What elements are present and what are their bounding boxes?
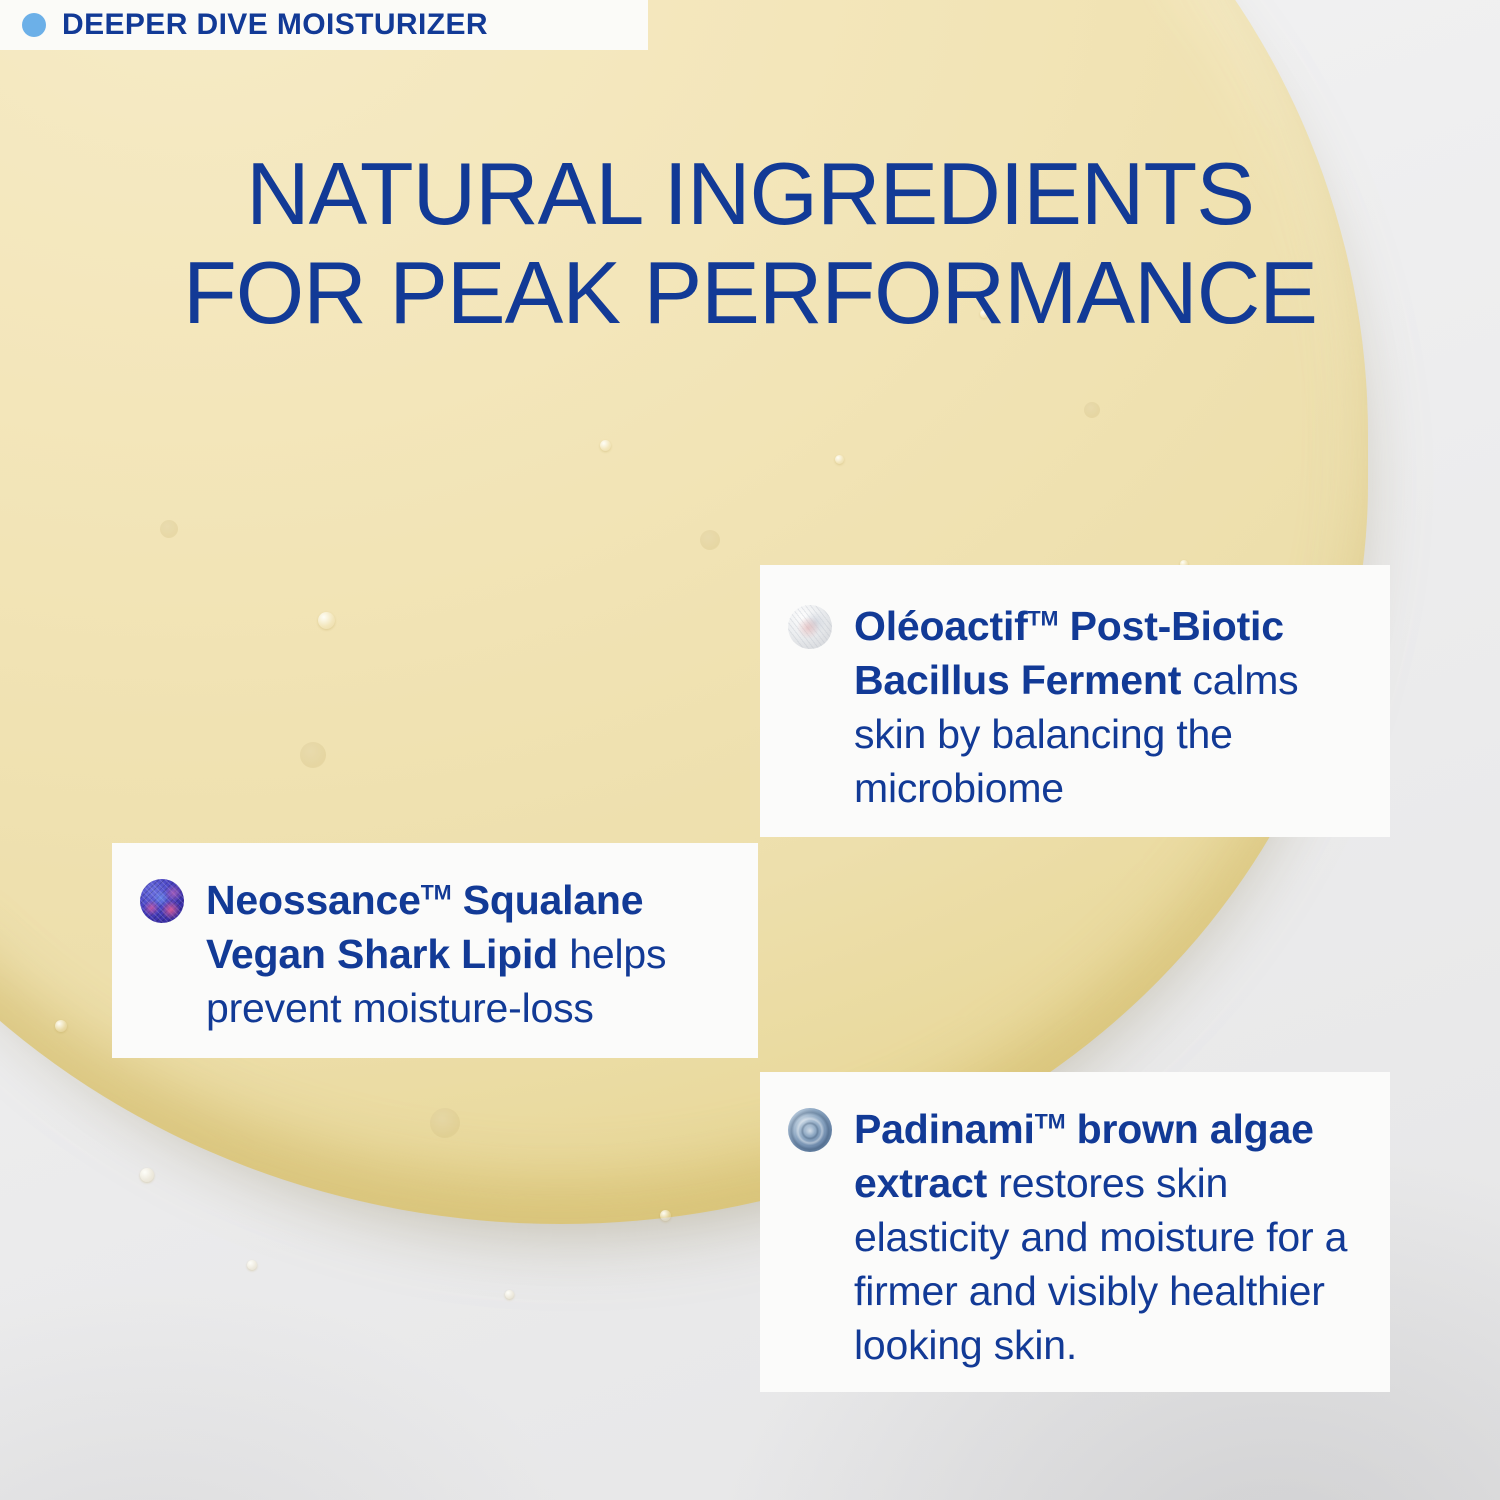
ingredient-card-padinami: PadinamiTM brown algae extract restores … bbox=[760, 1072, 1390, 1392]
page-title: NATURAL INGREDIENTS FOR PEAK PERFORMANCE bbox=[0, 145, 1500, 342]
product-ingredient-infographic: DEEPER DIVE MOISTURIZER NATURAL INGREDIE… bbox=[0, 0, 1500, 1500]
trademark-symbol: TM bbox=[1028, 606, 1059, 630]
ingredient-card-oleoactif: OléoactifTM Post-Biotic Bacillus Ferment… bbox=[760, 565, 1390, 837]
headline-line-2: FOR PEAK PERFORMANCE bbox=[70, 244, 1430, 343]
ingredient-text-padinami: PadinamiTM brown algae extract restores … bbox=[854, 1102, 1360, 1364]
trademark-symbol: TM bbox=[421, 880, 452, 904]
trademark-symbol: TM bbox=[1035, 1109, 1066, 1133]
eyebrow-label: DEEPER DIVE MOISTURIZER bbox=[62, 8, 488, 42]
neossance-swatch-icon bbox=[140, 879, 184, 923]
ingredient-card-neossance: NeossanceTM Squalane Vegan Shark Lipid h… bbox=[112, 843, 758, 1058]
oleoactif-swatch-icon bbox=[788, 605, 832, 649]
padinami-swatch-icon bbox=[788, 1108, 832, 1152]
ingredient-text-oleoactif: OléoactifTM Post-Biotic Bacillus Ferment… bbox=[854, 599, 1360, 809]
headline-line-1: NATURAL INGREDIENTS bbox=[246, 144, 1254, 243]
eyebrow-badge: DEEPER DIVE MOISTURIZER bbox=[0, 0, 648, 50]
ingredient-text-neossance: NeossanceTM Squalane Vegan Shark Lipid h… bbox=[206, 873, 732, 1034]
blue-dot-icon bbox=[22, 13, 46, 37]
